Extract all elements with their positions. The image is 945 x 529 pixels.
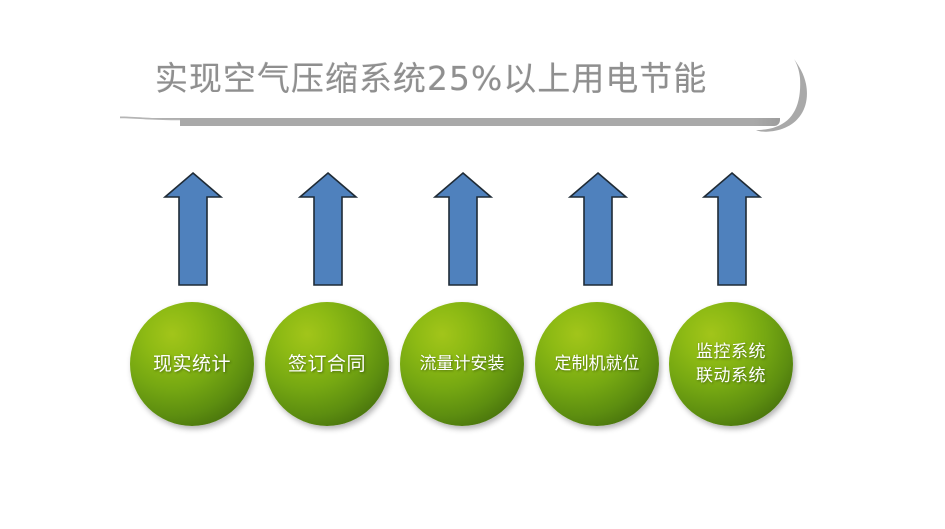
- step-label: 现实统计: [149, 352, 235, 377]
- banner-bar-left-taper: [120, 114, 180, 126]
- up-arrow-icon: [263, 170, 393, 288]
- step-label: 签订合同: [284, 352, 370, 377]
- process-step-1[interactable]: 现实统计: [128, 170, 258, 430]
- title-banner: 实现空气压缩系统25%以上用电节能: [110, 30, 810, 140]
- up-arrow-shape: [567, 170, 629, 288]
- step-circle[interactable]: 现实统计: [130, 302, 254, 426]
- step-circle[interactable]: 签订合同: [265, 302, 389, 426]
- up-arrow-shape: [297, 170, 359, 288]
- page-title: 实现空气压缩系统25%以上用电节能: [155, 50, 775, 108]
- up-arrow-icon: [128, 170, 258, 288]
- up-arrow-shape: [432, 170, 494, 288]
- step-circle[interactable]: 定制机就位: [535, 302, 659, 426]
- step-label: 定制机就位: [551, 352, 644, 377]
- step-label: 监控系统 联动系统: [692, 340, 770, 388]
- process-step-3[interactable]: 流量计安装: [398, 170, 528, 430]
- up-arrow-shape: [701, 170, 763, 288]
- up-arrow-icon: [398, 170, 528, 288]
- process-step-2[interactable]: 签订合同: [263, 170, 393, 430]
- banner-bar: [125, 118, 780, 126]
- step-circle[interactable]: 监控系统 联动系统: [669, 302, 793, 426]
- step-circle[interactable]: 流量计安装: [400, 302, 524, 426]
- slide-canvas: 实现空气压缩系统25%以上用电节能 现实统计 签订合同: [0, 0, 945, 529]
- banner-taper-shape: [120, 115, 180, 126]
- step-label: 流量计安装: [416, 352, 509, 377]
- process-step-5[interactable]: 监控系统 联动系统: [667, 170, 797, 430]
- up-arrow-icon: [667, 170, 797, 288]
- process-step-4[interactable]: 定制机就位: [533, 170, 663, 430]
- up-arrow-shape: [162, 170, 224, 288]
- up-arrow-icon: [533, 170, 663, 288]
